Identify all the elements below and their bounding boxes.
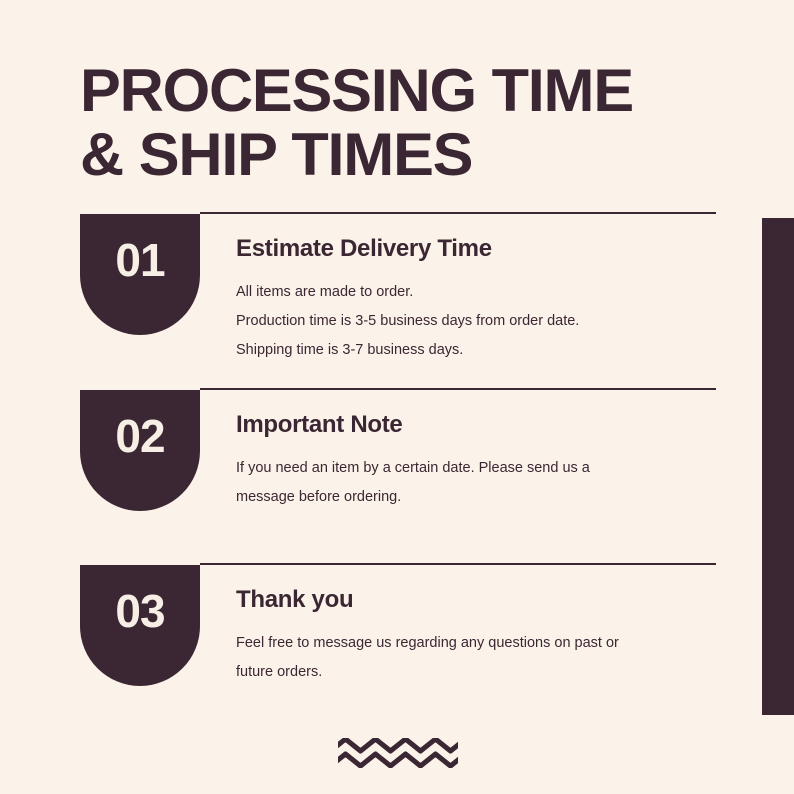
right-edge-accent-panel xyxy=(762,218,794,715)
page-title-line-1: PROCESSING TIME xyxy=(80,59,733,123)
section-divider xyxy=(200,388,716,390)
double-wave-divider-icon xyxy=(338,738,458,768)
section-text-line: future orders. xyxy=(236,658,720,687)
section-number-label: 02 xyxy=(115,410,164,462)
section-text-block: Feel free to message us regarding any qu… xyxy=(236,629,720,687)
section-text-line: If you need an item by a certain date. P… xyxy=(236,454,720,483)
section-text-block: All items are made to order. Production … xyxy=(236,278,720,365)
section-text-line: Feel free to message us regarding any qu… xyxy=(236,629,720,658)
poster-canvas: PROCESSING TIME & SHIP TIMES 01 Estimate… xyxy=(0,0,794,794)
section-divider xyxy=(200,212,716,214)
section-divider xyxy=(200,563,716,565)
section-text-line: Production time is 3-5 business days fro… xyxy=(236,307,720,336)
section-number-label: 03 xyxy=(115,585,164,637)
section-heading: Important Note xyxy=(236,410,720,440)
section-content: Thank you Feel free to message us regard… xyxy=(236,585,720,687)
section-content: Estimate Delivery Time All items are mad… xyxy=(236,234,720,365)
section-content: Important Note If you need an item by a … xyxy=(236,410,720,512)
page-title-line-2: & SHIP TIMES xyxy=(80,123,733,187)
page-title: PROCESSING TIME & SHIP TIMES xyxy=(80,59,720,187)
section-heading: Estimate Delivery Time xyxy=(236,234,720,264)
section-number-badge: 02 xyxy=(80,390,200,511)
section-heading: Thank you xyxy=(236,585,720,615)
section-text-block: If you need an item by a certain date. P… xyxy=(236,454,720,512)
section-text-line: message before ordering. xyxy=(236,483,720,512)
section-text-line: All items are made to order. xyxy=(236,278,720,307)
section-text-line: Shipping time is 3-7 business days. xyxy=(236,336,720,365)
section-number-label: 01 xyxy=(115,234,164,286)
section-number-badge: 03 xyxy=(80,565,200,686)
section-number-badge: 01 xyxy=(80,214,200,335)
